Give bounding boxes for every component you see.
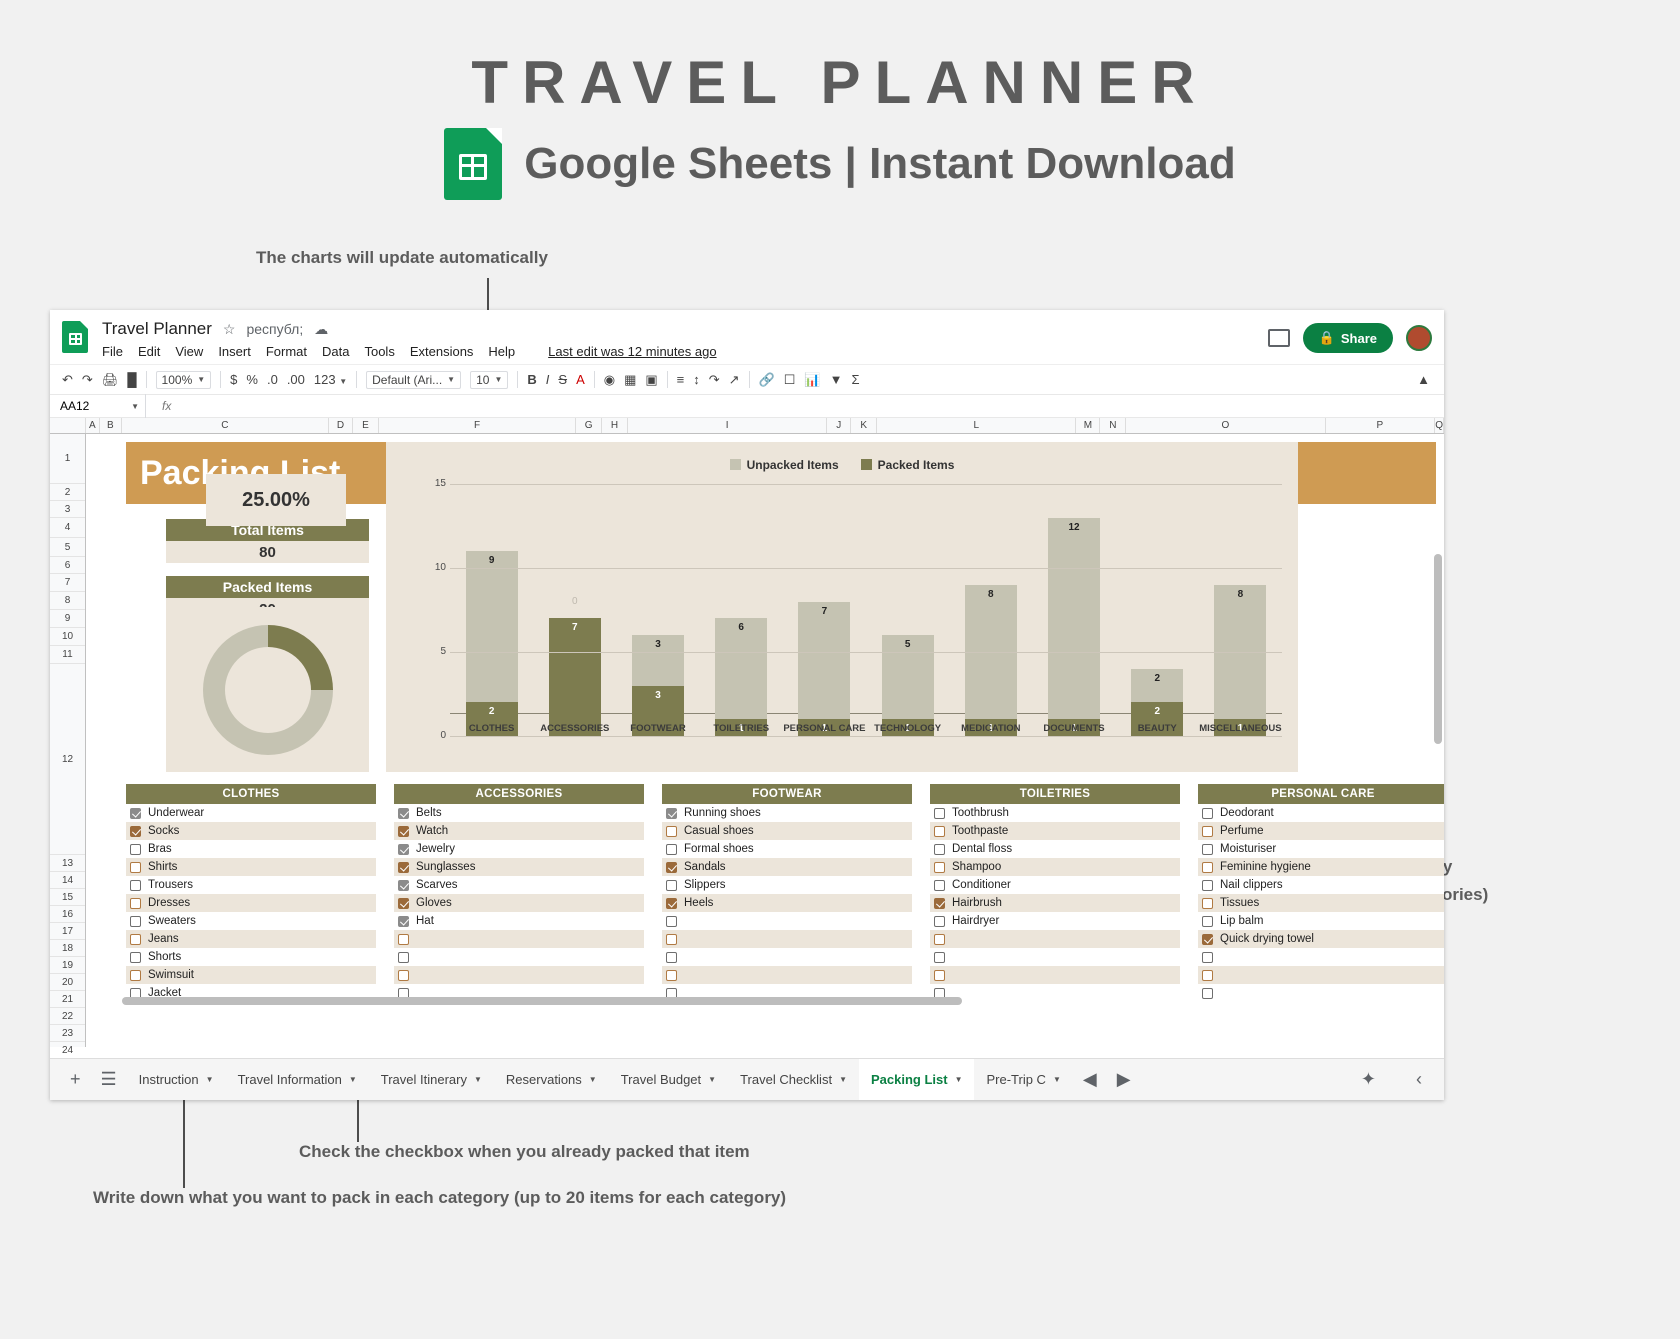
- checkbox[interactable]: [130, 808, 141, 819]
- row-number-20[interactable]: 20: [50, 974, 85, 991]
- column-header-I[interactable]: I: [628, 418, 827, 433]
- list-item[interactable]: [1198, 966, 1444, 984]
- chart-bar-column: 51: [866, 484, 949, 736]
- item-label: Shorts: [148, 951, 181, 963]
- currency-format-icon[interactable]: $: [230, 372, 237, 387]
- category-table: CLOTHESUnderwearSocksBrasShirtsTrousersD…: [126, 784, 376, 1002]
- row-number-12[interactable]: 12: [50, 664, 85, 855]
- checkbox[interactable]: [130, 952, 141, 963]
- merge-cells-icon[interactable]: ▣: [645, 372, 657, 388]
- item-label: Heels: [684, 897, 713, 909]
- list-item[interactable]: Shampoo: [930, 858, 1180, 876]
- list-item[interactable]: [662, 930, 912, 948]
- row-number-17[interactable]: 17: [50, 923, 85, 940]
- borders-icon[interactable]: ▦: [624, 372, 636, 388]
- sheet-tab-bar: + ☰ Instruction▼Travel Information▼Trave…: [50, 1058, 1444, 1100]
- sheet-tab-travel-checklist[interactable]: Travel Checklist▼: [728, 1059, 859, 1101]
- sheet-tab-pre-trip-c[interactable]: Pre-Trip C▼: [974, 1059, 1072, 1101]
- row-number-19[interactable]: 19: [50, 957, 85, 974]
- row-number-3[interactable]: 3: [50, 501, 85, 518]
- all-sheets-icon[interactable]: ☰: [91, 1069, 127, 1090]
- list-item[interactable]: Heels: [662, 894, 912, 912]
- legend-packed: Packed Items: [861, 458, 955, 472]
- checkbox[interactable]: [130, 862, 141, 873]
- checkbox[interactable]: [666, 934, 677, 945]
- list-item[interactable]: Hat: [394, 912, 644, 930]
- category-header: FOOTWEAR: [662, 784, 912, 804]
- row-number-8[interactable]: 8: [50, 592, 85, 610]
- checkbox[interactable]: [1202, 916, 1213, 927]
- promo-subtitle: Google Sheets | Instant Download: [524, 139, 1235, 189]
- item-label: Scarves: [416, 879, 458, 891]
- chart-bar-column: 92: [450, 484, 533, 736]
- checkbox[interactable]: [1202, 952, 1213, 963]
- column-header-A[interactable]: A: [86, 418, 100, 433]
- category-table: ACCESSORIESBeltsWatchJewelrySunglassesSc…: [394, 784, 644, 1002]
- chart-bar-column: 121: [1032, 484, 1115, 736]
- checkbox[interactable]: [666, 970, 677, 981]
- filter-icon[interactable]: ▼: [830, 372, 843, 387]
- list-item[interactable]: Lip balm: [1198, 912, 1444, 930]
- chart-gridline: [450, 568, 1282, 569]
- chart-x-labels: CLOTHESACCESSORIESFOOTWEARTOILETRIESPERS…: [450, 723, 1282, 734]
- cloud-saved-icon[interactable]: ☁: [314, 321, 328, 338]
- row-number-9[interactable]: 9: [50, 610, 85, 628]
- item-label: Formal shoes: [684, 843, 754, 855]
- row-number-5[interactable]: 5: [50, 538, 85, 557]
- checkbox[interactable]: [398, 916, 409, 927]
- sheet-tab-travel-budget[interactable]: Travel Budget▼: [609, 1059, 728, 1101]
- checkbox[interactable]: [1202, 898, 1213, 909]
- sheet-tab-label: Travel Information: [238, 1072, 342, 1087]
- menu-view[interactable]: View: [175, 344, 203, 359]
- scroll-tabs-left-icon[interactable]: ◀: [1073, 1069, 1107, 1090]
- checkbox[interactable]: [934, 808, 945, 819]
- chart-gridline: [450, 652, 1282, 653]
- list-item[interactable]: Belts: [394, 804, 644, 822]
- column-header-G[interactable]: G: [576, 418, 602, 433]
- redo-icon[interactable]: ↷: [82, 372, 93, 388]
- checkbox[interactable]: [1202, 970, 1213, 981]
- undo-icon[interactable]: ↶: [62, 372, 73, 388]
- list-item[interactable]: Toothpaste: [930, 822, 1180, 840]
- sheet-tab-travel-information[interactable]: Travel Information▼: [226, 1059, 369, 1101]
- row-number-7[interactable]: 7: [50, 574, 85, 592]
- list-item[interactable]: Running shoes: [662, 804, 912, 822]
- toolbar: ↶ ↷ 🖨 █ 100%▼ $ % .0 .00 123 ▼ Default (…: [50, 364, 1444, 394]
- annotation-write-items-line: [183, 1090, 185, 1188]
- checkbox[interactable]: [398, 952, 409, 963]
- category-table: PERSONAL CAREDeodorantPerfumeMoisturiser…: [1198, 784, 1444, 1002]
- list-item[interactable]: Sandals: [662, 858, 912, 876]
- column-header-C[interactable]: C: [122, 418, 329, 433]
- list-item[interactable]: Bras: [126, 840, 376, 858]
- checkbox[interactable]: [398, 844, 409, 855]
- zoom-select[interactable]: 100%▼: [156, 371, 212, 389]
- list-item[interactable]: Quick drying towel: [1198, 930, 1444, 948]
- checkbox[interactable]: [934, 898, 945, 909]
- font-select[interactable]: Default (Ari...▼: [366, 371, 461, 389]
- item-label: Toothpaste: [952, 825, 1008, 837]
- item-label: Casual shoes: [684, 825, 754, 837]
- checkbox[interactable]: [1202, 844, 1213, 855]
- page-title: TRAVEL PLANNER: [0, 48, 1680, 117]
- collapse-toolbar-icon[interactable]: ▲: [1417, 372, 1430, 387]
- list-item[interactable]: Shorts: [126, 948, 376, 966]
- column-header-H[interactable]: H: [602, 418, 628, 433]
- row-number-1[interactable]: 1: [50, 434, 85, 484]
- packed-percent-overlay: 25.00%: [206, 474, 346, 526]
- print-icon[interactable]: 🖨: [102, 372, 119, 388]
- sheet-tab-instruction[interactable]: Instruction▼: [127, 1059, 226, 1101]
- row-number-18[interactable]: 18: [50, 940, 85, 957]
- row-number-24[interactable]: 24: [50, 1042, 85, 1059]
- document-title[interactable]: Travel Planner: [102, 319, 212, 339]
- list-item[interactable]: [930, 930, 1180, 948]
- list-item[interactable]: [662, 912, 912, 930]
- list-item[interactable]: Deodorant: [1198, 804, 1444, 822]
- item-label: Slippers: [684, 879, 726, 891]
- list-item[interactable]: Sunglasses: [394, 858, 644, 876]
- checkbox[interactable]: [130, 970, 141, 981]
- list-item[interactable]: Nail clippers: [1198, 876, 1444, 894]
- list-item[interactable]: Tissues: [1198, 894, 1444, 912]
- formula-bar: AA12▼ fx: [50, 394, 1444, 418]
- menu-format[interactable]: Format: [266, 344, 307, 359]
- list-item[interactable]: Conditioner: [930, 876, 1180, 894]
- checkbox[interactable]: [1202, 826, 1213, 837]
- checkbox[interactable]: [666, 862, 677, 873]
- explore-icon[interactable]: ✦: [1351, 1069, 1386, 1090]
- row-number-11[interactable]: 11: [50, 646, 85, 664]
- annotation-charts: The charts will update automatically: [256, 248, 548, 268]
- list-item[interactable]: Jewelry: [394, 840, 644, 858]
- lock-icon: 🔒: [1319, 330, 1335, 346]
- list-item[interactable]: Gloves: [394, 894, 644, 912]
- percent-format-icon[interactable]: %: [246, 372, 258, 387]
- list-item[interactable]: Formal shoes: [662, 840, 912, 858]
- list-item[interactable]: Underwear: [126, 804, 376, 822]
- checkbox[interactable]: [934, 916, 945, 927]
- chart-x-label: BEAUTY: [1116, 723, 1199, 734]
- list-item[interactable]: [1198, 948, 1444, 966]
- checkbox[interactable]: [666, 808, 677, 819]
- checkbox[interactable]: [398, 970, 409, 981]
- item-label: Socks: [148, 825, 179, 837]
- chart-gridline: [450, 736, 1282, 737]
- checkbox[interactable]: [398, 808, 409, 819]
- list-item[interactable]: [394, 930, 644, 948]
- column-header-L[interactable]: L: [877, 418, 1076, 433]
- category-header: CLOTHES: [126, 784, 376, 804]
- checkbox[interactable]: [1202, 934, 1213, 945]
- chart-x-label: TECHNOLOGY: [866, 723, 949, 734]
- avatar[interactable]: [1406, 325, 1432, 351]
- decrease-decimal-icon[interactable]: .0: [267, 372, 278, 387]
- item-label: Toothbrush: [952, 807, 1009, 819]
- row-number-2[interactable]: 2: [50, 484, 85, 501]
- checkbox[interactable]: [130, 916, 141, 927]
- list-item[interactable]: Toothbrush: [930, 804, 1180, 822]
- list-item[interactable]: Jeans: [126, 930, 376, 948]
- chevron-down-icon[interactable]: ▼: [839, 1075, 847, 1084]
- sheet-tab-packing-list[interactable]: Packing List▼: [859, 1059, 975, 1101]
- chart-y-tick: 10: [422, 562, 446, 573]
- column-header-B[interactable]: B: [100, 418, 122, 433]
- font-size-select[interactable]: 10▼: [470, 371, 508, 389]
- checkbox[interactable]: [934, 970, 945, 981]
- column-header-P[interactable]: P: [1326, 418, 1436, 433]
- list-item[interactable]: Slippers: [662, 876, 912, 894]
- column-header-M[interactable]: M: [1076, 418, 1100, 433]
- sheet-tab-label: Instruction: [139, 1072, 199, 1087]
- scroll-tabs-right-icon[interactable]: ▶: [1107, 1069, 1141, 1090]
- item-label: Jeans: [148, 933, 179, 945]
- menu-tools[interactable]: Tools: [364, 344, 394, 359]
- text-color-icon[interactable]: A: [576, 372, 585, 387]
- list-item[interactable]: [930, 966, 1180, 984]
- item-label: Lip balm: [1220, 915, 1263, 927]
- formula-input[interactable]: fx: [146, 399, 171, 413]
- chart-plot-area: 920733617151811212281 CLOTHESACCESSORIES…: [422, 484, 1282, 736]
- vertical-align-icon[interactable]: ↕: [693, 372, 700, 387]
- fill-color-icon[interactable]: ◉: [604, 372, 615, 388]
- column-header-F[interactable]: F: [379, 418, 576, 433]
- column-header-O[interactable]: O: [1126, 418, 1325, 433]
- item-label: Moisturiser: [1220, 843, 1276, 855]
- item-label: Hairdryer: [952, 915, 999, 927]
- list-item[interactable]: [1198, 984, 1444, 1002]
- list-item[interactable]: Hairbrush: [930, 894, 1180, 912]
- checkbox[interactable]: [130, 844, 141, 855]
- list-item[interactable]: Socks: [126, 822, 376, 840]
- list-item[interactable]: [930, 984, 1180, 1002]
- checkbox[interactable]: [130, 898, 141, 909]
- checkbox[interactable]: [934, 934, 945, 945]
- star-icon[interactable]: ☆: [223, 321, 236, 338]
- text-wrap-icon[interactable]: ↷: [709, 372, 720, 388]
- item-label: Perfume: [1220, 825, 1263, 837]
- checkbox[interactable]: [934, 826, 945, 837]
- sheet-tab-label: Pre-Trip C: [986, 1072, 1045, 1087]
- chart-y-tick: 15: [422, 478, 446, 489]
- chart-bar-column: 71: [783, 484, 866, 736]
- row-number-4[interactable]: 4: [50, 518, 85, 538]
- list-item[interactable]: Hairdryer: [930, 912, 1180, 930]
- category-table: FOOTWEARRunning shoesCasual shoesFormal …: [662, 784, 912, 1002]
- row-number-22[interactable]: 22: [50, 1008, 85, 1025]
- column-header-J[interactable]: J: [827, 418, 851, 433]
- vertical-scrollbar[interactable]: [1434, 554, 1442, 744]
- chevron-down-icon[interactable]: ▼: [955, 1075, 963, 1084]
- checkbox[interactable]: [666, 898, 677, 909]
- item-label: Dresses: [148, 897, 190, 909]
- share-button[interactable]: 🔒 Share: [1303, 323, 1393, 353]
- row-number-13[interactable]: 13: [50, 855, 85, 872]
- checkbox[interactable]: [398, 898, 409, 909]
- functions-icon[interactable]: Σ: [851, 372, 859, 387]
- column-header-N[interactable]: N: [1100, 418, 1126, 433]
- comments-icon[interactable]: [1268, 329, 1290, 347]
- donut-chart: [166, 607, 369, 772]
- bar-chart: Unpacked Items Packed Items 920733617151…: [386, 442, 1298, 772]
- menu-help[interactable]: Help: [488, 344, 515, 359]
- checkbox[interactable]: [934, 952, 945, 963]
- move-to-folder-icon[interactable]: республ;: [246, 321, 303, 337]
- row-number-16[interactable]: 16: [50, 906, 85, 923]
- item-label: Dental floss: [952, 843, 1012, 855]
- increase-decimal-icon[interactable]: .00: [287, 372, 305, 387]
- list-item[interactable]: Dental floss: [930, 840, 1180, 858]
- item-label: Feminine hygiene: [1220, 861, 1311, 873]
- checkbox[interactable]: [934, 862, 945, 873]
- item-label: Deodorant: [1220, 807, 1274, 819]
- paint-format-icon[interactable]: █: [127, 372, 136, 387]
- insert-chart-icon[interactable]: 📊: [804, 372, 820, 388]
- list-item[interactable]: Swimsuit: [126, 966, 376, 984]
- select-all-corner[interactable]: [50, 418, 86, 433]
- checkbox[interactable]: [1202, 808, 1213, 819]
- list-item[interactable]: Casual shoes: [662, 822, 912, 840]
- share-label: Share: [1341, 331, 1377, 346]
- item-label: Trousers: [148, 879, 193, 891]
- list-item[interactable]: [394, 966, 644, 984]
- list-item[interactable]: [394, 948, 644, 966]
- chart-bar-column: 22: [1116, 484, 1199, 736]
- column-header-D[interactable]: D: [329, 418, 353, 433]
- row-number-6[interactable]: 6: [50, 557, 85, 574]
- menu-edit[interactable]: Edit: [138, 344, 160, 359]
- checkbox[interactable]: [666, 952, 677, 963]
- item-label: Shirts: [148, 861, 177, 873]
- item-label: Bras: [148, 843, 172, 855]
- grid: 1 2 3 4 5 6 7 8 9 10 11 12 13 14 15 16 1…: [50, 434, 1444, 1047]
- sheet-tab-label: Reservations: [506, 1072, 582, 1087]
- column-header-E[interactable]: E: [353, 418, 379, 433]
- menu-extensions[interactable]: Extensions: [410, 344, 474, 359]
- menu-file[interactable]: File: [102, 344, 123, 359]
- google-sheets-icon: [444, 128, 502, 200]
- add-sheet-icon[interactable]: +: [60, 1069, 91, 1090]
- item-label: Sandals: [684, 861, 726, 873]
- checkbox[interactable]: [1202, 862, 1213, 873]
- list-item[interactable]: Shirts: [126, 858, 376, 876]
- menu-data[interactable]: Data: [322, 344, 349, 359]
- list-item[interactable]: Watch: [394, 822, 644, 840]
- menu-insert[interactable]: Insert: [218, 344, 251, 359]
- checkbox[interactable]: [1202, 880, 1213, 891]
- horizontal-scrollbar[interactable]: [122, 997, 962, 1005]
- sheet-tab-label: Packing List: [871, 1072, 948, 1087]
- item-label: Hairbrush: [952, 897, 1002, 909]
- checkbox[interactable]: [130, 880, 141, 891]
- chevron-down-icon[interactable]: ▼: [474, 1075, 482, 1084]
- list-item[interactable]: [662, 966, 912, 984]
- app-header: Travel Planner ☆ республ; ☁ File Edit Vi…: [50, 310, 1444, 364]
- checkbox[interactable]: [666, 844, 677, 855]
- chart-bar-column: 81: [949, 484, 1032, 736]
- column-header-Q[interactable]: Q: [1435, 418, 1444, 433]
- item-label: Running shoes: [684, 807, 761, 819]
- checkbox[interactable]: [130, 826, 141, 837]
- chevron-down-icon[interactable]: ▼: [206, 1075, 214, 1084]
- checkbox[interactable]: [666, 880, 677, 891]
- checkbox[interactable]: [934, 844, 945, 855]
- checkbox[interactable]: [398, 934, 409, 945]
- list-item[interactable]: Feminine hygiene: [1198, 858, 1444, 876]
- column-headers: A B C D E F G H I J K L M N O P Q: [50, 418, 1444, 434]
- list-item[interactable]: Dresses: [126, 894, 376, 912]
- item-label: Conditioner: [952, 879, 1011, 891]
- chart-gridline: [450, 484, 1282, 485]
- list-item[interactable]: [930, 948, 1180, 966]
- sheet-tab-travel-itinerary[interactable]: Travel Itinerary▼: [369, 1059, 494, 1101]
- row-number-23[interactable]: 23: [50, 1025, 85, 1042]
- google-sheets-window: Travel Planner ☆ республ; ☁ File Edit Vi…: [50, 310, 1444, 1100]
- italic-icon[interactable]: I: [546, 372, 550, 387]
- chart-bar-column: 61: [700, 484, 783, 736]
- row-number-10[interactable]: 10: [50, 628, 85, 646]
- sheet-content: Packing List Total Items 80 Packed Items…: [86, 434, 1444, 1047]
- list-item[interactable]: [662, 948, 912, 966]
- checkbox[interactable]: [934, 880, 945, 891]
- list-item[interactable]: Moisturiser: [1198, 840, 1444, 858]
- chevron-down-icon[interactable]: ▼: [589, 1075, 597, 1084]
- chart-x-label: PERSONAL CARE: [783, 723, 866, 734]
- sheet-tab-label: Travel Itinerary: [381, 1072, 467, 1087]
- bold-icon[interactable]: B: [527, 372, 536, 387]
- chart-bar-column: 81: [1199, 484, 1282, 736]
- category-header: ACCESSORIES: [394, 784, 644, 804]
- list-item[interactable]: Trousers: [126, 876, 376, 894]
- item-label: Sweaters: [148, 915, 196, 927]
- category-header: TOILETRIES: [930, 784, 1180, 804]
- collapse-panel-icon[interactable]: ‹: [1406, 1069, 1432, 1090]
- row-number-15[interactable]: 15: [50, 889, 85, 906]
- checkbox[interactable]: [666, 916, 677, 927]
- text-rotation-icon[interactable]: ↗: [729, 372, 740, 388]
- insert-comment-icon[interactable]: ☐: [784, 372, 796, 388]
- checkbox[interactable]: [398, 826, 409, 837]
- number-format-select[interactable]: 123 ▼: [314, 372, 347, 387]
- column-header-K[interactable]: K: [851, 418, 877, 433]
- last-edit-label[interactable]: Last edit was 12 minutes ago: [548, 344, 716, 359]
- sheet-tab-reservations[interactable]: Reservations▼: [494, 1059, 609, 1101]
- strikethrough-icon[interactable]: S: [558, 372, 567, 387]
- row-number-14[interactable]: 14: [50, 872, 85, 889]
- chevron-down-icon[interactable]: ▼: [349, 1075, 357, 1084]
- chevron-down-icon[interactable]: ▼: [708, 1075, 716, 1084]
- sheets-logo-icon[interactable]: [62, 321, 88, 353]
- checkbox[interactable]: [398, 880, 409, 891]
- list-item[interactable]: Scarves: [394, 876, 644, 894]
- horizontal-align-icon[interactable]: ≡: [677, 372, 685, 387]
- item-label: Shampoo: [952, 861, 1001, 873]
- checkbox[interactable]: [666, 826, 677, 837]
- list-item[interactable]: Perfume: [1198, 822, 1444, 840]
- annotation-write-items: Write down what you want to pack in each…: [93, 1188, 786, 1208]
- checkbox[interactable]: [130, 934, 141, 945]
- item-label: Hat: [416, 915, 434, 927]
- name-box[interactable]: AA12▼: [50, 399, 145, 413]
- insert-link-icon[interactable]: 🔗: [759, 372, 775, 388]
- checkbox[interactable]: [1202, 988, 1213, 999]
- chart-x-label: DOCUMENTS: [1032, 723, 1115, 734]
- list-item[interactable]: Sweaters: [126, 912, 376, 930]
- row-number-21[interactable]: 21: [50, 991, 85, 1008]
- checkbox[interactable]: [398, 862, 409, 873]
- chevron-down-icon[interactable]: ▼: [1053, 1075, 1061, 1084]
